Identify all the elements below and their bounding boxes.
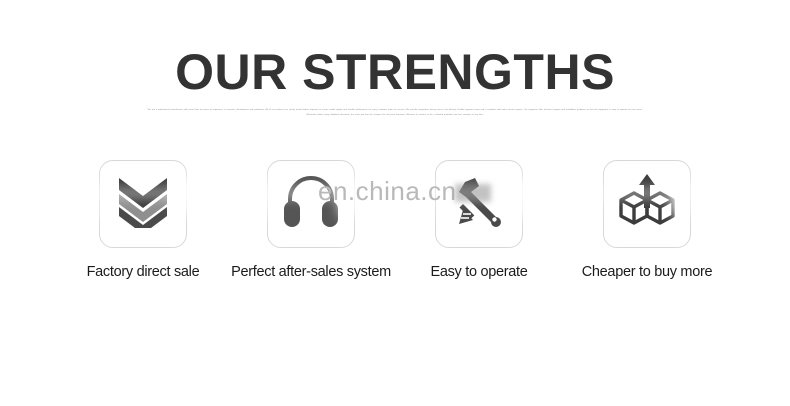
icon-box bbox=[435, 160, 523, 248]
stacked-chevrons-down-icon bbox=[115, 176, 171, 233]
feature-item-after-sales-system: Perfect after-sales system bbox=[227, 160, 395, 280]
wrench-pencil-icon bbox=[451, 174, 507, 235]
icon-box bbox=[603, 160, 691, 248]
feature-caption: Cheaper to buy more bbox=[582, 264, 713, 280]
feature-caption: Perfect after-sales system bbox=[231, 264, 391, 280]
feature-caption: Easy to operate bbox=[430, 264, 527, 280]
feature-item-factory-direct-sale: Factory direct sale bbox=[59, 160, 227, 280]
icon-box bbox=[99, 160, 187, 248]
boxes-arrow-up-icon bbox=[617, 174, 677, 235]
icon-box bbox=[267, 160, 355, 248]
feature-caption: Factory direct sale bbox=[87, 264, 200, 280]
headset-icon bbox=[282, 175, 340, 234]
page-title: OUR STRENGTHS bbox=[0, 44, 790, 100]
description-paragraph: We are a professional manufacturer with … bbox=[145, 108, 645, 117]
feature-list: Factory direct sale Perfect after-sales … bbox=[0, 160, 790, 280]
feature-item-cheaper-to-buy-more: Cheaper to buy more bbox=[563, 160, 731, 280]
strengths-banner: OUR STRENGTHS We are a professional manu… bbox=[0, 0, 790, 406]
feature-item-easy-to-operate: Easy to operate bbox=[395, 160, 563, 280]
